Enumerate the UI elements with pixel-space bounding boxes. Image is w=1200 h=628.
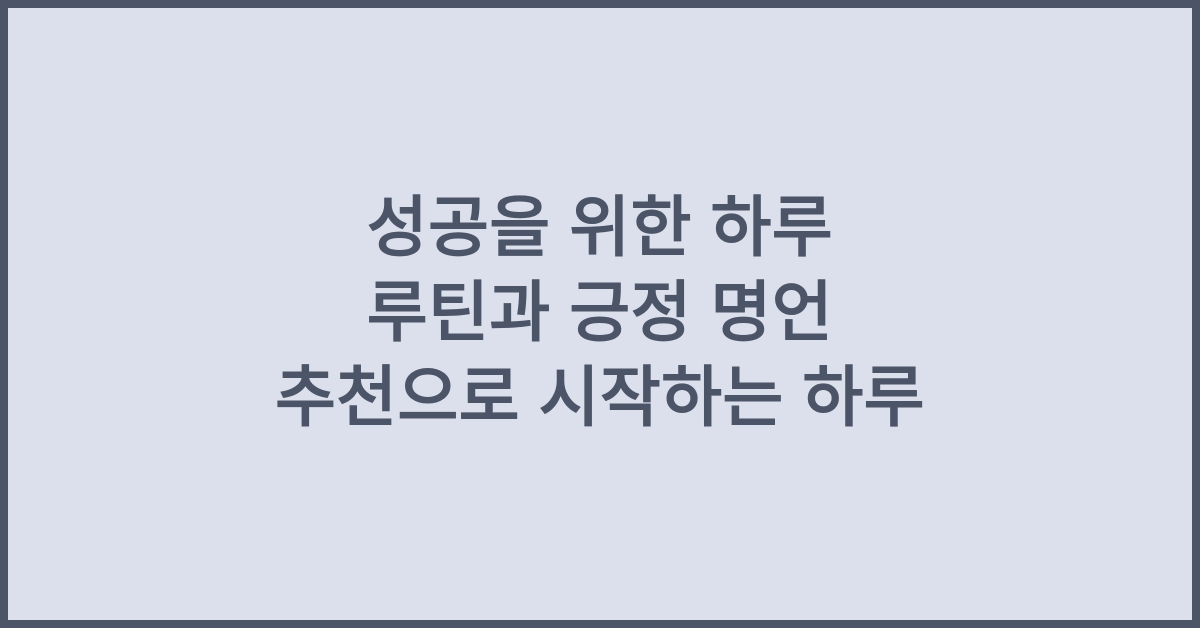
headline-line-2: 루틴과 긍정 명언	[48, 270, 1152, 355]
headline-block: 성공을 위한 하루 루틴과 긍정 명언 추천으로 시작하는 하루	[8, 185, 1192, 440]
headline-line-1: 성공을 위한 하루	[48, 185, 1152, 270]
title-card: 성공을 위한 하루 루틴과 긍정 명언 추천으로 시작하는 하루	[0, 0, 1200, 628]
headline-line-3: 추천으로 시작하는 하루	[48, 355, 1152, 440]
